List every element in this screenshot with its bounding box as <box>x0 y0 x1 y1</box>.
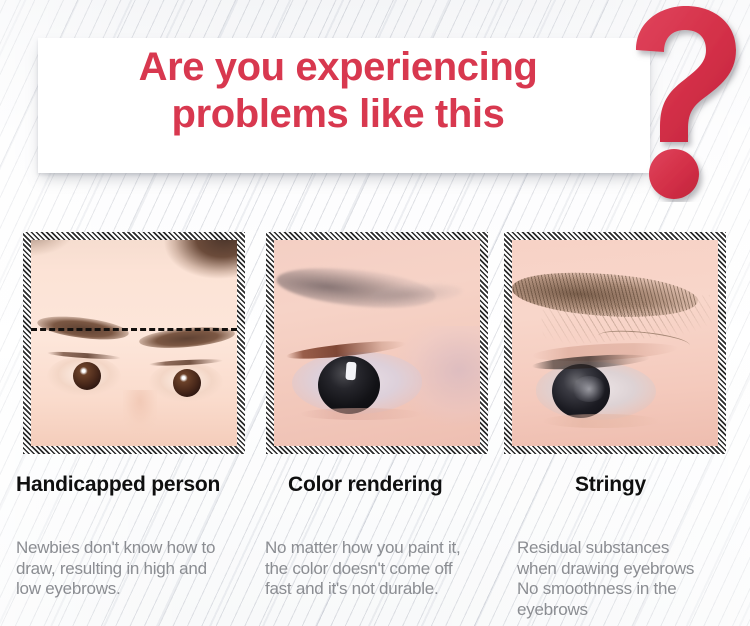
lower-eyelid <box>542 414 660 428</box>
dashed-guide-line <box>31 328 237 331</box>
question-mark-icon <box>612 2 750 202</box>
hero-section: Are you experiencing problems like this <box>0 0 750 215</box>
description-line: when drawing eyebrows <box>517 559 745 580</box>
description-line: fast and it's not durable. <box>265 579 509 600</box>
photo-handicapped-person <box>31 240 237 446</box>
description-line: the color doesn't come off <box>265 559 509 580</box>
description-line: low eyebrows. <box>16 579 262 600</box>
hair-decoration-left <box>31 240 91 270</box>
caption-stringy: Stringy <box>575 472 646 498</box>
photo-frame-stringy <box>504 232 726 454</box>
description-color-rendering: No matter how you paint it, the color do… <box>265 538 509 600</box>
lower-eyelid <box>300 408 422 420</box>
caption-color-rendering: Color rendering <box>288 472 443 498</box>
photo-stringy <box>512 240 718 446</box>
nose-bridge <box>123 390 157 444</box>
promo-page: Are you experiencing problems like this <box>0 0 750 626</box>
description-line: No smoothness in the <box>517 579 745 600</box>
description-line: Newbies don't know how to <box>16 538 262 559</box>
hair-decoration <box>147 240 237 308</box>
photo-color-rendering <box>274 240 480 446</box>
photo-frame-color-rendering <box>266 232 488 454</box>
iris-left <box>73 362 101 390</box>
description-line: eyebrows <box>517 600 745 621</box>
description-handicapped-person: Newbies don't know how to draw, resultin… <box>16 538 262 600</box>
caption-handicapped-person: Handicapped person <box>16 472 220 498</box>
eye-glint <box>345 362 356 381</box>
description-line: Residual substances <box>517 538 745 559</box>
page-title: Are you experiencing problems like this <box>38 44 638 138</box>
iris-right <box>173 369 201 397</box>
photo-strip <box>0 232 750 454</box>
iris-sparkle <box>572 376 606 402</box>
description-stringy: Residual substances when drawing eyebrow… <box>517 538 745 620</box>
caption-row: Handicapped person Color rendering Strin… <box>0 472 750 506</box>
description-row: Newbies don't know how to draw, resultin… <box>0 538 750 626</box>
photo-frame-handicapped-person <box>23 232 245 454</box>
description-line: No matter how you paint it, <box>265 538 509 559</box>
description-line: draw, resulting in high and <box>16 559 262 580</box>
